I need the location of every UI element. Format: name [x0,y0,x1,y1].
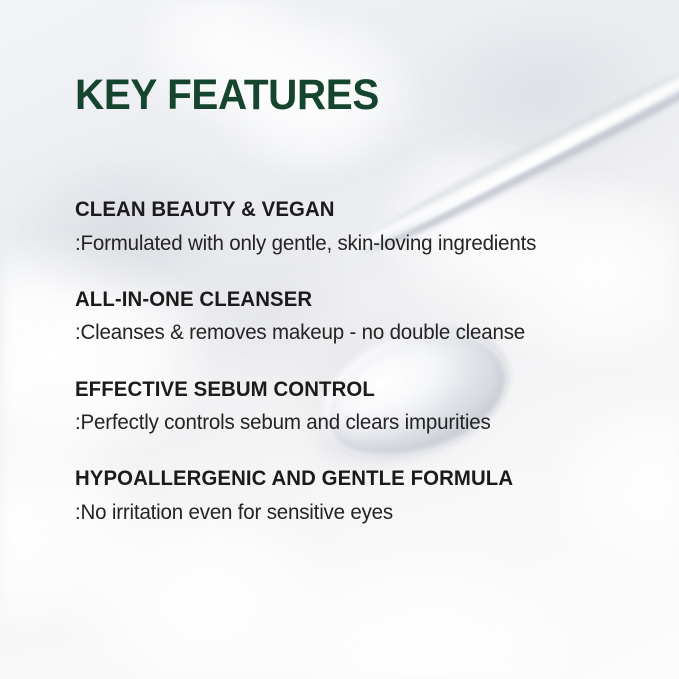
feature-list: CLEAN BEAUTY & VEGAN :Formulated with on… [75,197,635,525]
feature-item-hypoallergenic-gentle-formula: HYPOALLERGENIC AND GENTLE FORMULA :No ir… [75,466,635,525]
feature-description: :Cleanses & removes makeup - no double c… [75,319,610,345]
content-overlay: KEY FEATURES CLEAN BEAUTY & VEGAN :Formu… [0,0,679,679]
page-title: KEY FEATURES [75,74,379,117]
feature-item-all-in-one-cleanser: ALL-IN-ONE CLEANSER :Cleanses & removes … [75,287,635,346]
key-features-banner: KEY FEATURES CLEAN BEAUTY & VEGAN :Formu… [0,0,679,679]
feature-item-clean-beauty-vegan: CLEAN BEAUTY & VEGAN :Formulated with on… [75,197,635,256]
feature-description: :Perfectly controls sebum and clears imp… [75,409,610,435]
feature-heading: EFFECTIVE SEBUM CONTROL [75,377,618,403]
feature-item-effective-sebum-control: EFFECTIVE SEBUM CONTROL :Perfectly contr… [75,377,635,436]
feature-description: :No irritation even for sensitive eyes [75,499,610,525]
feature-heading: ALL-IN-ONE CLEANSER [75,287,618,313]
feature-description: :Formulated with only gentle, skin-lovin… [75,230,610,256]
feature-heading: CLEAN BEAUTY & VEGAN [75,197,618,223]
feature-heading: HYPOALLERGENIC AND GENTLE FORMULA [75,466,618,492]
